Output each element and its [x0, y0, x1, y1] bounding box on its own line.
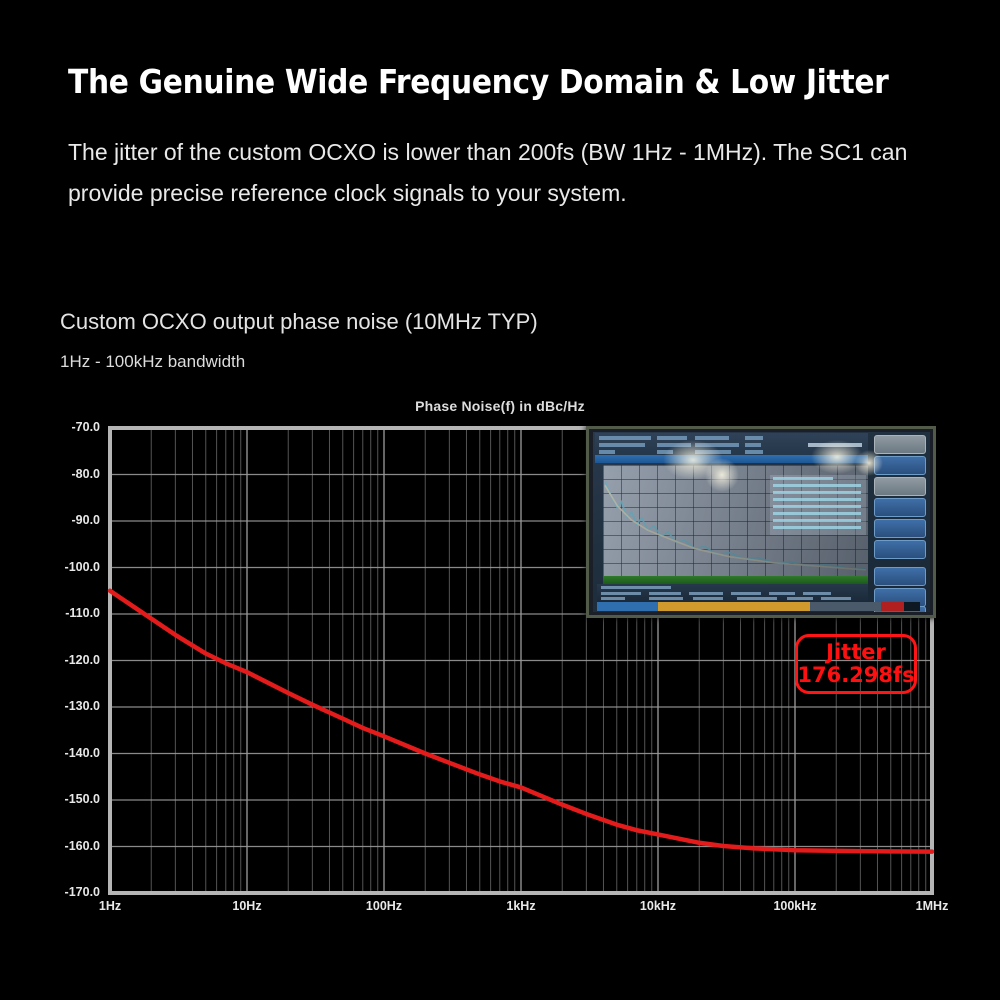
analyzer-progress-bar — [597, 602, 920, 611]
analyzer-softkey[interactable] — [874, 435, 926, 454]
y-tick-label: -170.0 — [50, 885, 100, 899]
analyzer-frequency-offset-bar — [603, 576, 868, 584]
analyzer-photo — [586, 426, 936, 618]
x-tick-label: 10Hz — [212, 899, 282, 913]
x-tick-label: 1MHz — [897, 899, 967, 913]
x-tick-label: 100kHz — [760, 899, 830, 913]
analyzer-softkey[interactable] — [874, 477, 926, 496]
y-tick-label: -130.0 — [50, 699, 100, 713]
screen-glare — [705, 458, 739, 492]
y-tick-label: -100.0 — [50, 560, 100, 574]
y-tick-label: -160.0 — [50, 839, 100, 853]
y-tick-label: -70.0 — [50, 420, 100, 434]
analyzer-softkey[interactable] — [874, 519, 926, 538]
analyzer-softkey[interactable] — [874, 540, 926, 559]
analyzer-softkey[interactable] — [874, 567, 926, 586]
y-tick-label: -80.0 — [50, 467, 100, 481]
y-tick-label: -140.0 — [50, 746, 100, 760]
x-tick-label: 10kHz — [623, 899, 693, 913]
analyzer-measurement-panel — [597, 584, 868, 602]
x-tick-label: 1kHz — [486, 899, 556, 913]
y-tick-label: -120.0 — [50, 653, 100, 667]
page-root: The Genuine Wide Frequency Domain & Low … — [0, 0, 1000, 1000]
analyzer-marker-table — [770, 475, 866, 535]
screen-glare — [855, 450, 883, 476]
y-tick-label: -90.0 — [50, 513, 100, 527]
jitter-label: Jitter — [826, 641, 886, 663]
x-tick-label: 100Hz — [349, 899, 419, 913]
jitter-value: 176.298fs — [797, 663, 914, 687]
x-tick-label: 1Hz — [75, 899, 145, 913]
y-tick-label: -150.0 — [50, 792, 100, 806]
y-tick-label: -110.0 — [50, 606, 100, 620]
jitter-annotation: Jitter 176.298fs — [795, 634, 917, 694]
analyzer-softkey[interactable] — [874, 498, 926, 517]
analyzer-screen — [593, 432, 930, 612]
